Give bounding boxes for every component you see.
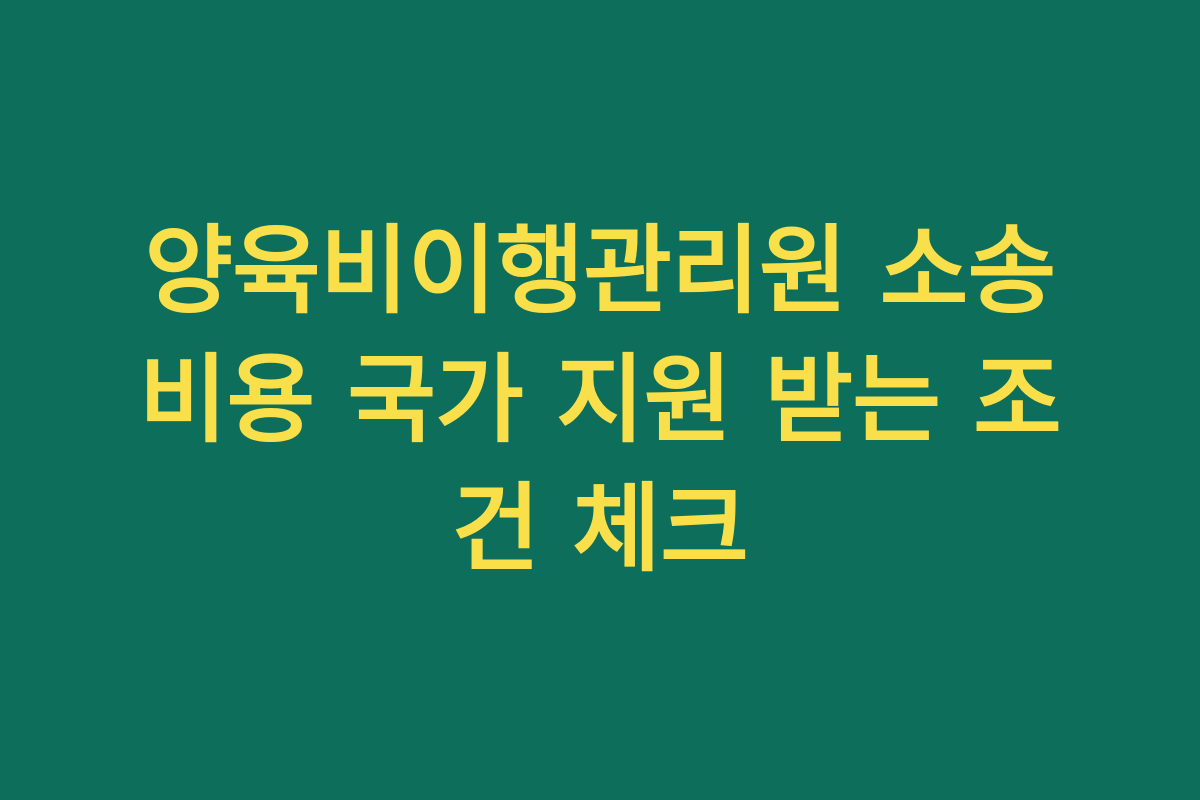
headline-line-2: 비용 국가 지원 받는 조 [139, 344, 1061, 456]
page-title: 양육비이행관리원 소송비용 국가 지원 받는 조건 체크 [0, 207, 1200, 594]
headline-line-1: 양육비이행관리원 소송 [144, 215, 1055, 327]
headline-line-3: 건 체크 [452, 473, 748, 585]
title-card: 양육비이행관리원 소송비용 국가 지원 받는 조건 체크 [0, 0, 1200, 800]
